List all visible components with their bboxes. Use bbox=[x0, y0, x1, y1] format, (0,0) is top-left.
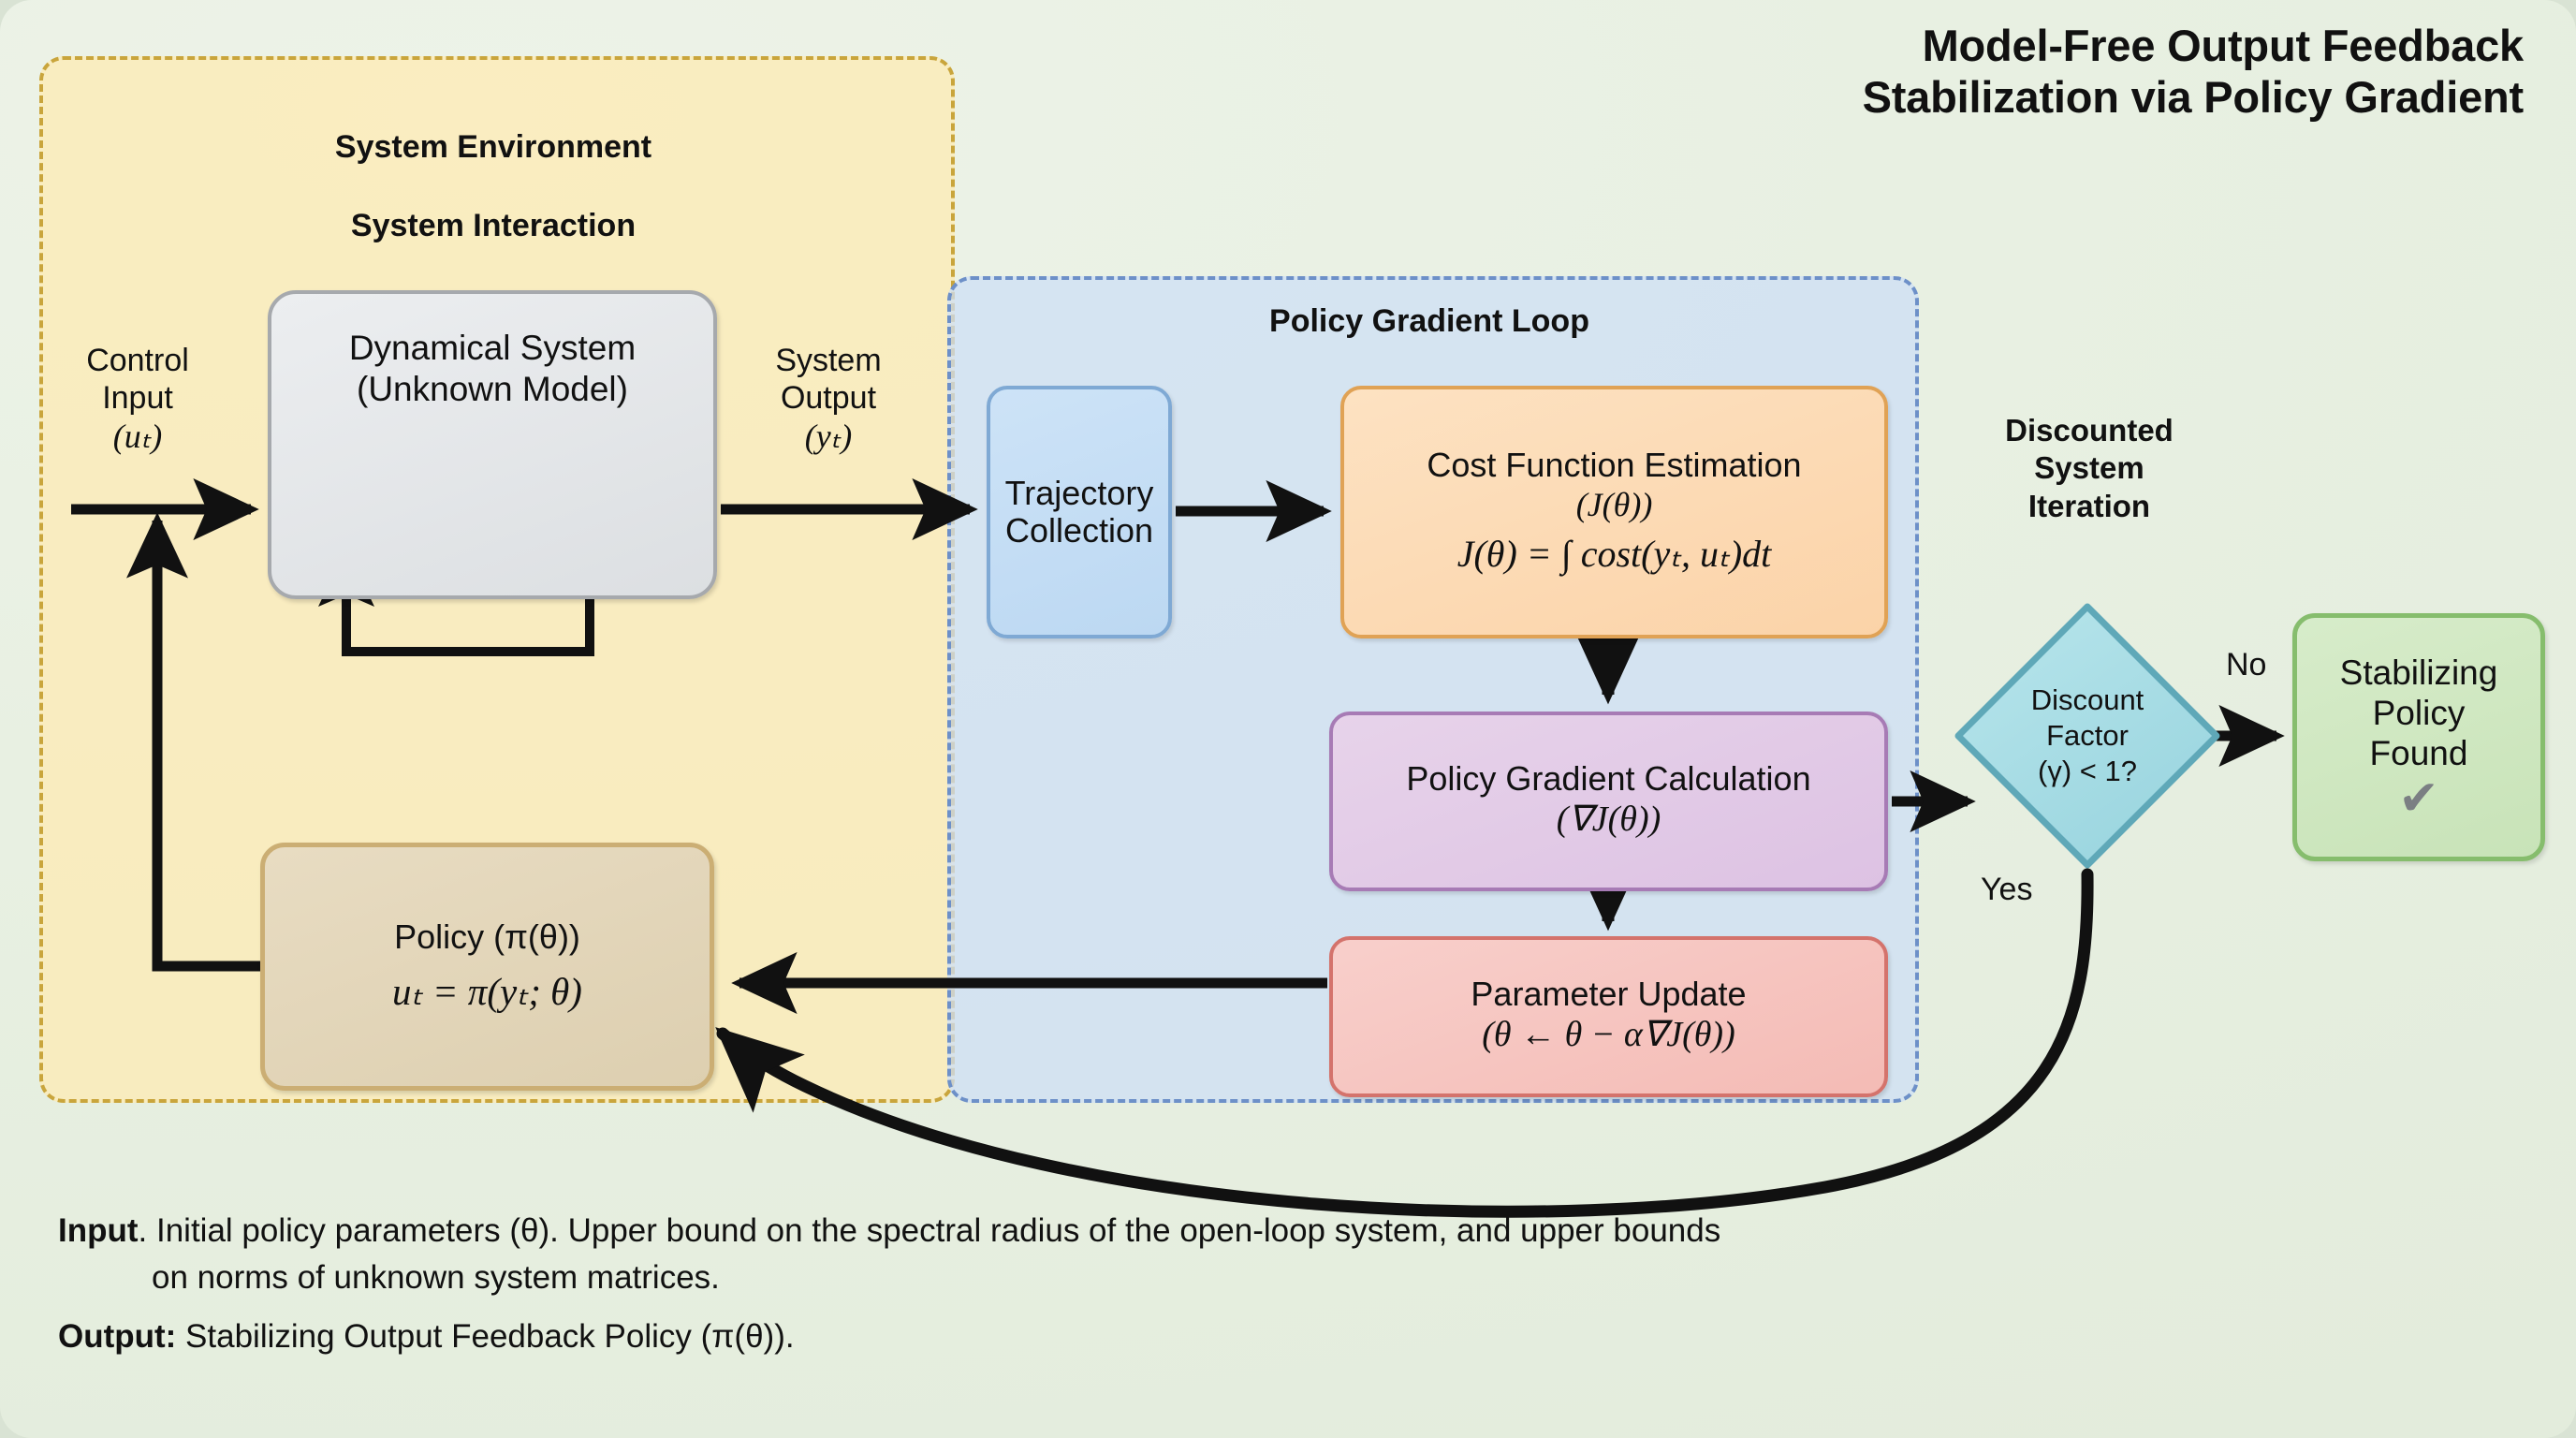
parameter-update-box[interactable]: Parameter Update (θ ← θ − α∇J(θ)) bbox=[1329, 936, 1888, 1097]
cost-symbol: (J(θ)) bbox=[1576, 485, 1653, 525]
cost-line1: Cost Function Estimation bbox=[1427, 447, 1801, 484]
footer-output-text: Stabilizing Output Feedback Policy (π(θ)… bbox=[176, 1318, 794, 1355]
footer-input-label: Input bbox=[58, 1212, 139, 1249]
discounted-system-iteration-title: Discounted System Iteration bbox=[1949, 412, 2230, 525]
system-output-line1: System bbox=[739, 342, 917, 379]
branch-label-yes: Yes bbox=[1981, 871, 2032, 908]
branch-label-no: No bbox=[2226, 646, 2266, 683]
system-output-line2: Output bbox=[739, 379, 917, 417]
footer-input-text-2: on norms of unknown system matrices. bbox=[58, 1255, 2492, 1301]
trajectory-collection-box[interactable]: Trajectory Collection bbox=[987, 386, 1172, 638]
footer-io-text: Input. Initial policy parameters (θ). Up… bbox=[58, 1208, 2492, 1360]
discount-factor-decision[interactable]: Discount Factor (γ) < 1? bbox=[1949, 597, 2226, 874]
system-environment-title: System Environment bbox=[39, 129, 947, 166]
policy-equation: uₜ = π(yₜ; θ) bbox=[392, 969, 582, 1014]
result-line3: Found bbox=[2370, 734, 2468, 774]
footer-input-row: Input. Initial policy parameters (θ). Up… bbox=[58, 1208, 2492, 1255]
control-input-line1: Control bbox=[49, 342, 227, 379]
diamond-label: Discount Factor (γ) < 1? bbox=[1949, 597, 2226, 874]
cost-equation: J(θ) = ∫ cost(yₜ, uₜ)dt bbox=[1457, 531, 1772, 578]
policy-box[interactable]: Policy (π(θ)) uₜ = π(yₜ; θ) bbox=[260, 843, 714, 1091]
stabilizing-policy-found-box[interactable]: Stabilizing Policy Found ✔ bbox=[2292, 613, 2545, 861]
diamond-line1: Discount bbox=[2031, 682, 2144, 718]
policy-gradient-calculation-box[interactable]: Policy Gradient Calculation (∇J(θ)) bbox=[1329, 712, 1888, 891]
page-title: Model-Free Output Feedback Stabilization… bbox=[1419, 21, 2524, 124]
system-interaction-subtitle: System Interaction bbox=[39, 208, 947, 244]
system-output-label: System Output (yₜ) bbox=[739, 342, 917, 457]
policy-gradient-loop-title: Policy Gradient Loop bbox=[947, 303, 1911, 340]
page-title-line2: Stabilization via Policy Gradient bbox=[1419, 72, 2524, 124]
cost-function-estimation-box[interactable]: Cost Function Estimation (J(θ)) J(θ) = ∫… bbox=[1340, 386, 1888, 638]
trajectory-line1: Trajectory bbox=[1005, 475, 1154, 512]
param-line1: Parameter Update bbox=[1471, 976, 1746, 1013]
diagram-canvas: Model-Free Output Feedback Stabilization… bbox=[0, 0, 2576, 1438]
trajectory-line2: Collection bbox=[1005, 512, 1153, 550]
disc-title-line2: System bbox=[1949, 449, 2230, 487]
page-title-line1: Model-Free Output Feedback bbox=[1419, 21, 2524, 72]
disc-title-line1: Discounted bbox=[1949, 412, 2230, 449]
system-output-symbol: (yₜ) bbox=[739, 417, 917, 456]
diamond-line3: (γ) < 1? bbox=[2038, 754, 2137, 789]
gradient-symbol: (∇J(θ)) bbox=[1557, 798, 1661, 843]
dynamical-system-label: Dynamical System (Unknown Model) bbox=[268, 328, 717, 411]
dynamical-system-line1: Dynamical System bbox=[268, 328, 717, 369]
footer-output-row: Output: Stabilizing Output Feedback Poli… bbox=[58, 1313, 2492, 1360]
diamond-line2: Factor bbox=[2046, 718, 2129, 754]
dynamical-system-line2: (Unknown Model) bbox=[268, 369, 717, 410]
control-input-label: Control Input (uₜ) bbox=[49, 342, 227, 457]
result-line1: Stabilizing bbox=[2340, 653, 2498, 694]
disc-title-line3: Iteration bbox=[1949, 488, 2230, 525]
policy-line1: Policy (π(θ)) bbox=[394, 918, 580, 956]
control-input-symbol: (uₜ) bbox=[49, 417, 227, 456]
param-equation: (θ ← θ − α∇J(θ)) bbox=[1482, 1013, 1735, 1058]
footer-input-text-1: . Initial policy parameters (θ). Upper b… bbox=[139, 1212, 1721, 1249]
control-input-line2: Input bbox=[49, 379, 227, 417]
result-line2: Policy bbox=[2373, 694, 2466, 734]
gradient-line1: Policy Gradient Calculation bbox=[1406, 760, 1810, 798]
check-icon: ✔ bbox=[2398, 777, 2439, 821]
footer-output-label: Output: bbox=[58, 1318, 176, 1355]
